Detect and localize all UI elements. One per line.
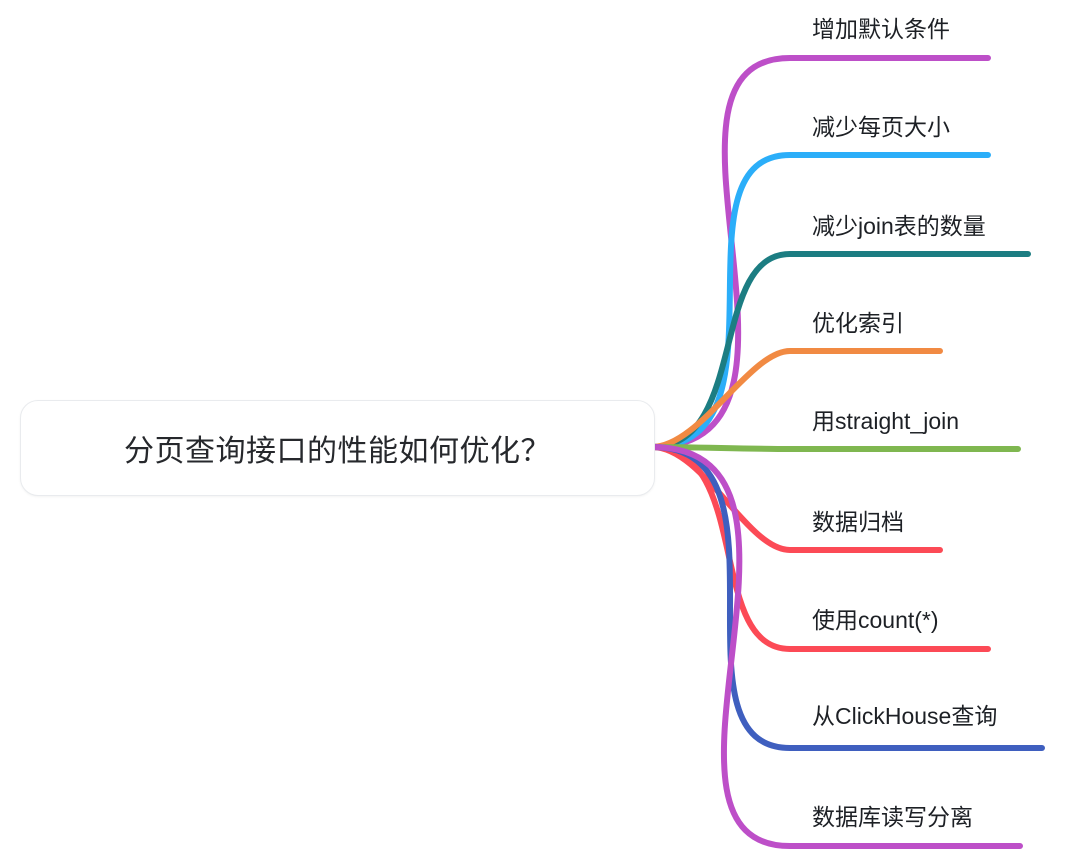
branch-label[interactable]: 用straight_join (812, 410, 959, 433)
branch-label[interactable]: 减少join表的数量 (812, 215, 986, 238)
branch-label[interactable]: 数据归档 (812, 511, 904, 534)
branch-connector (652, 447, 1020, 846)
branch-connector (652, 447, 1018, 449)
central-node-label: 分页查询接口的性能如何优化？ (124, 426, 551, 470)
branch-label[interactable]: 优化索引 (812, 312, 904, 335)
mindmap-diagram: 分页查询接口的性能如何优化？ 增加默认条件减少每页大小减少join表的数量优化索… (0, 0, 1080, 860)
branch-label[interactable]: 使用count(*) (812, 609, 939, 632)
branch-label[interactable]: 增加默认条件 (812, 18, 950, 41)
branch-label[interactable]: 从ClickHouse查询 (812, 705, 997, 728)
branch-label[interactable]: 数据库读写分离 (812, 806, 973, 829)
branch-connector (652, 155, 988, 447)
branch-label[interactable]: 减少每页大小 (812, 116, 950, 139)
central-node[interactable]: 分页查询接口的性能如何优化？ (20, 400, 655, 496)
